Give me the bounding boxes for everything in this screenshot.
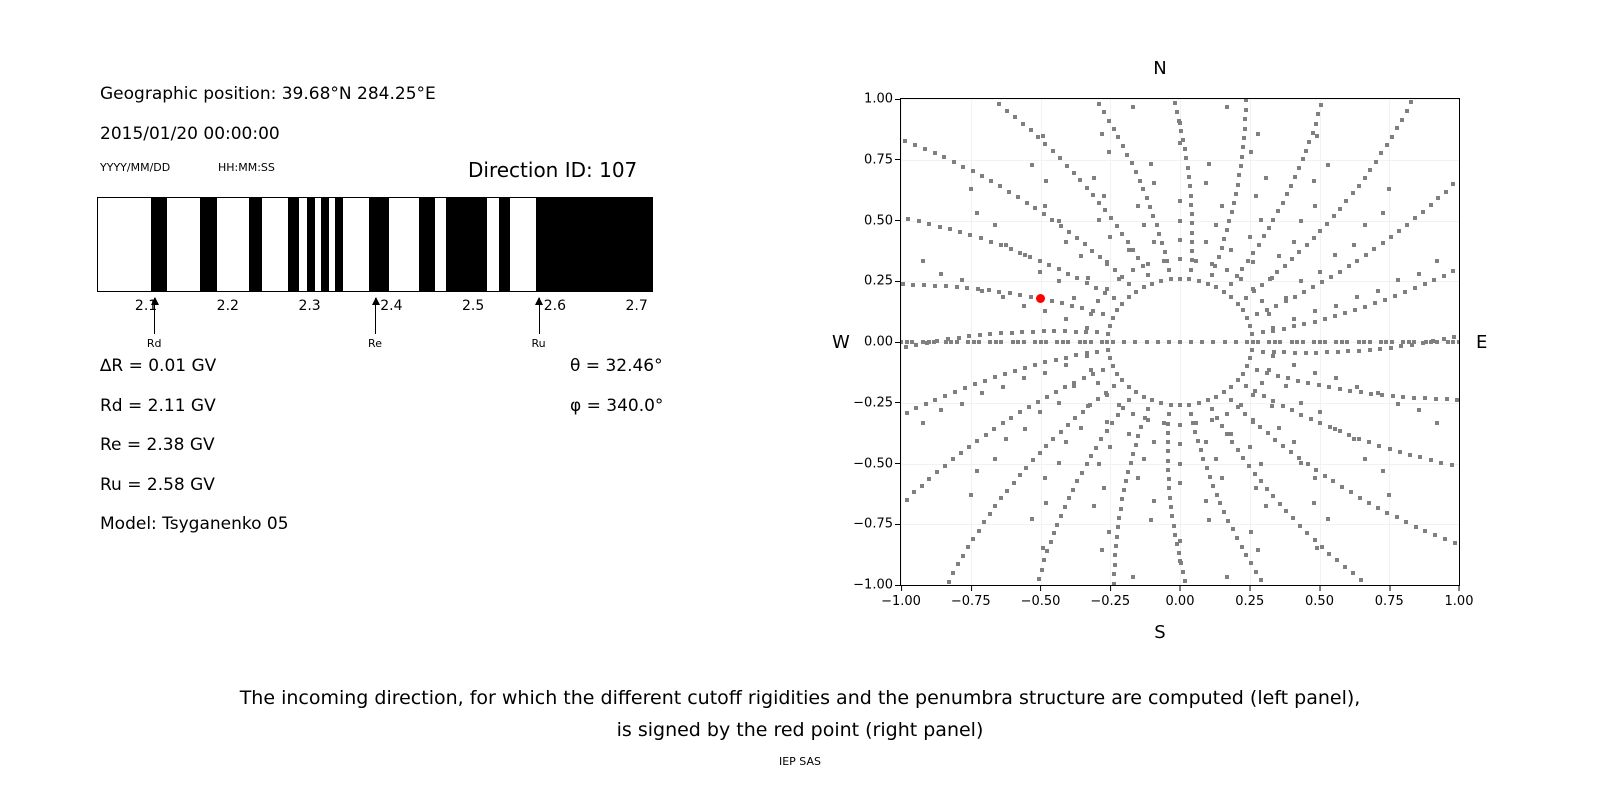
direction-point	[1297, 250, 1301, 254]
direction-point	[1229, 295, 1233, 299]
direction-point	[1333, 314, 1337, 318]
direction-point	[1218, 501, 1222, 505]
direction-point	[1098, 255, 1102, 259]
direction-point	[1073, 416, 1077, 420]
direction-point	[1079, 254, 1083, 258]
direction-point	[1054, 358, 1058, 362]
direction-point	[1064, 240, 1068, 244]
direction-point	[1338, 387, 1342, 391]
direction-point	[1239, 277, 1243, 281]
direction-point	[1290, 340, 1294, 344]
direction-point	[1170, 514, 1174, 518]
direction-point	[1131, 268, 1135, 272]
direction-point	[1064, 440, 1068, 444]
direction-point	[1119, 507, 1123, 511]
parameter-value: Re = 2.38 GV	[100, 435, 215, 455]
direction-point	[1246, 259, 1250, 263]
direction-point	[1013, 369, 1017, 373]
x-axis-tick-label: −0.75	[951, 594, 991, 609]
direction-point	[1191, 421, 1195, 425]
direction-point	[1353, 308, 1357, 312]
direction-point	[1260, 299, 1264, 303]
direction-point	[1423, 282, 1427, 286]
direction-point	[1121, 144, 1125, 148]
direction-point	[989, 179, 993, 183]
direction-point	[1038, 270, 1042, 274]
direction-point	[999, 496, 1003, 500]
penumbra-band	[536, 198, 653, 291]
direction-point	[1249, 150, 1253, 154]
direction-point	[969, 187, 973, 191]
angle-parameter-value: φ = 340.0°	[570, 396, 663, 416]
direction-point	[1189, 412, 1193, 416]
direction-point	[1357, 437, 1361, 441]
direction-point	[1229, 432, 1233, 436]
direction-point	[1244, 384, 1248, 388]
direction-point	[1352, 243, 1356, 247]
direction-point	[1009, 247, 1013, 251]
direction-point	[1142, 457, 1146, 461]
direction-point	[1111, 340, 1115, 344]
direction-point	[1276, 374, 1280, 378]
direction-point	[1241, 308, 1245, 312]
direction-point	[1332, 214, 1336, 218]
direction-point	[1186, 166, 1190, 170]
direction-point	[1309, 417, 1313, 421]
direction-point	[1127, 282, 1131, 286]
direction-point	[1009, 416, 1013, 420]
direction-point	[988, 332, 992, 336]
direction-point	[1090, 249, 1094, 253]
direction-point	[1100, 548, 1104, 552]
direction-point	[1059, 514, 1063, 518]
direction-point	[1214, 223, 1218, 227]
direction-point	[1320, 280, 1324, 284]
direction-point	[1265, 308, 1269, 312]
direction-point	[1254, 194, 1258, 198]
direction-point	[1302, 322, 1306, 326]
direction-point	[1159, 401, 1163, 405]
direction-point	[1236, 405, 1240, 409]
direction-point	[1190, 240, 1194, 244]
direction-point	[1231, 527, 1235, 531]
direction-point	[1194, 259, 1198, 263]
direction-point	[1152, 440, 1156, 444]
direction-point	[1178, 238, 1182, 242]
direction-point	[1385, 511, 1389, 515]
direction-point	[1230, 440, 1234, 444]
direction-point	[1112, 296, 1116, 300]
direction-point	[1052, 531, 1056, 535]
direction-point	[951, 571, 955, 575]
direction-point	[905, 411, 909, 415]
direction-point	[965, 286, 969, 290]
direction-point	[1241, 456, 1245, 460]
direction-point	[1022, 340, 1026, 344]
direction-point	[1346, 349, 1350, 353]
direction-point	[1395, 126, 1399, 130]
direction-point	[1189, 194, 1193, 198]
direction-point	[1259, 462, 1263, 466]
direction-point	[923, 147, 927, 151]
direction-point	[1167, 412, 1171, 416]
direction-point	[913, 143, 917, 147]
direction-point	[947, 580, 951, 584]
direction-point	[1204, 240, 1208, 244]
direction-point	[1278, 340, 1282, 344]
direction-point	[1187, 277, 1191, 281]
direction-point	[1299, 401, 1303, 405]
direction-point	[993, 375, 997, 379]
y-axis-tick-label: −1.00	[853, 578, 893, 593]
direction-point	[1391, 394, 1395, 398]
direction-point	[1397, 229, 1401, 233]
direction-point	[1166, 459, 1170, 463]
direction-point	[1292, 317, 1296, 321]
direction-point	[1086, 276, 1090, 280]
direction-point	[1451, 340, 1455, 344]
direction-point	[1214, 457, 1218, 461]
direction-point	[1021, 122, 1025, 126]
direction-point	[1103, 208, 1107, 212]
direction-point	[1412, 340, 1416, 344]
direction-point	[1295, 340, 1299, 344]
direction-point	[927, 222, 931, 226]
direction-point	[1304, 149, 1308, 153]
direction-point	[1101, 312, 1105, 316]
direction-point	[1367, 501, 1371, 505]
direction-point	[1205, 466, 1209, 470]
direction-point	[1399, 344, 1403, 348]
direction-point	[1165, 259, 1169, 263]
direction-point	[1136, 434, 1140, 438]
direction-point	[1100, 340, 1104, 344]
direction-point	[935, 470, 939, 474]
direction-point	[1312, 501, 1316, 505]
direction-point	[1234, 192, 1238, 196]
direction-point	[1136, 204, 1140, 208]
direction-point	[1328, 425, 1332, 429]
direction-point	[1210, 407, 1214, 411]
direction-point	[1380, 393, 1384, 397]
direction-point	[1313, 371, 1317, 375]
direction-point	[1136, 476, 1140, 480]
direction-point	[1248, 356, 1252, 360]
direction-point	[1418, 455, 1422, 459]
direction-point	[1211, 340, 1215, 344]
direction-point	[1292, 240, 1296, 244]
direction-point	[1215, 416, 1219, 420]
direction-point	[980, 289, 984, 293]
direction-point	[1230, 210, 1234, 214]
direction-point	[1003, 372, 1007, 376]
direction-point	[1044, 179, 1048, 183]
direction-point	[1267, 340, 1271, 344]
direction-point	[1254, 570, 1258, 574]
direction-point	[1080, 471, 1084, 475]
direction-point	[1200, 340, 1204, 344]
direction-point	[1250, 332, 1254, 336]
penumbra-tick-label: 2.2	[217, 298, 239, 314]
direction-point	[1237, 173, 1241, 177]
direction-point	[1293, 295, 1297, 299]
direction-point	[1141, 264, 1145, 268]
direction-point	[1248, 324, 1252, 328]
direction-point	[1103, 291, 1107, 295]
direction-point	[1306, 462, 1310, 466]
penumbra-band	[200, 198, 216, 291]
direction-point	[1022, 376, 1026, 380]
direction-point	[1408, 453, 1412, 457]
left-panel: Geographic position: 39.68°N 284.25°E 20…	[0, 0, 760, 640]
direction-point	[1423, 529, 1427, 533]
direction-point	[1196, 439, 1200, 443]
direction-point	[1236, 302, 1240, 306]
direction-point	[1234, 340, 1238, 344]
direction-point	[1347, 433, 1351, 437]
direction-point	[1121, 406, 1125, 410]
direction-point	[1292, 363, 1296, 367]
direction-point	[1235, 274, 1239, 278]
direction-point	[1343, 565, 1347, 569]
direction-point	[955, 340, 959, 344]
direction-point	[1229, 398, 1233, 402]
direction-point	[921, 259, 925, 263]
direction-point	[1044, 340, 1048, 344]
direction-point	[1389, 346, 1393, 350]
direction-point	[1344, 199, 1348, 203]
direction-point	[1097, 201, 1101, 205]
direction-point	[1336, 350, 1340, 354]
right-panel: N S W E −1.00−0.75−0.50−0.250.000.250.50…	[760, 0, 1600, 660]
direction-point	[1355, 385, 1359, 389]
penumbra-band	[499, 198, 510, 291]
direction-point	[1362, 340, 1366, 344]
direction-point	[982, 520, 986, 524]
angle-parameter-value: θ = 32.46°	[570, 356, 663, 376]
direction-point	[1222, 237, 1226, 241]
direction-point	[1245, 316, 1249, 320]
direction-point	[1297, 166, 1301, 170]
direction-point	[1190, 221, 1194, 225]
direction-point	[1041, 134, 1045, 138]
direction-point	[1106, 348, 1110, 352]
direction-point	[1190, 258, 1194, 262]
direction-point	[1220, 476, 1224, 480]
direction-point	[997, 290, 1001, 294]
direction-point	[1116, 413, 1120, 417]
direction-point	[1264, 176, 1268, 180]
direction-point	[1313, 204, 1317, 208]
direction-point	[1070, 304, 1074, 308]
direction-point	[1085, 351, 1089, 355]
direction-point	[1190, 231, 1194, 235]
direction-point	[1271, 354, 1275, 358]
direction-point	[951, 457, 955, 461]
direction-point	[1115, 224, 1119, 228]
direction-point	[1148, 205, 1152, 209]
direction-point	[988, 340, 992, 344]
direction-point	[1381, 211, 1385, 215]
direction-point	[1318, 421, 1322, 425]
direction-point	[942, 155, 946, 159]
direction-point	[939, 408, 943, 412]
caption-line-1: The incoming direction, for which the di…	[0, 682, 1600, 714]
direction-point	[924, 402, 928, 406]
direction-point	[1248, 445, 1252, 449]
direction-point	[910, 340, 914, 344]
direction-point	[1299, 219, 1303, 223]
direction-point	[1367, 440, 1371, 444]
x-axis-tick-label: 0.50	[1305, 594, 1334, 609]
direction-point	[1273, 438, 1277, 442]
direction-point	[963, 386, 967, 390]
direction-point	[1044, 444, 1048, 448]
direction-point	[1297, 456, 1301, 460]
direction-point	[943, 394, 947, 398]
direction-point	[1357, 184, 1361, 188]
direction-point	[1085, 186, 1089, 190]
direction-point	[1283, 264, 1287, 268]
direction-point	[1042, 558, 1046, 562]
direction-point	[1045, 395, 1049, 399]
direction-point	[1302, 290, 1306, 294]
direction-point	[1023, 253, 1027, 257]
direction-point	[1131, 105, 1135, 109]
direction-point	[1210, 273, 1214, 277]
direction-point	[1178, 277, 1182, 281]
direction-point	[1057, 461, 1061, 465]
direction-point	[1225, 228, 1229, 232]
direction-point	[1217, 255, 1221, 259]
direction-point	[1163, 250, 1167, 254]
direction-point	[1405, 223, 1409, 227]
direction-point	[1329, 275, 1333, 279]
direction-point	[1244, 98, 1248, 102]
direction-point	[912, 490, 916, 494]
direction-point	[1108, 235, 1112, 239]
direction-point	[1213, 264, 1217, 268]
direction-point	[1083, 340, 1087, 344]
direction-point	[1197, 279, 1201, 283]
direction-point	[1338, 429, 1342, 433]
direction-point	[1285, 192, 1289, 196]
direction-point	[1151, 214, 1155, 218]
direction-point	[1333, 253, 1337, 257]
direction-point	[1124, 479, 1128, 483]
direction-point	[1074, 353, 1078, 357]
direction-point	[1190, 212, 1194, 216]
direction-point	[1401, 340, 1405, 344]
direction-point	[1152, 240, 1156, 244]
direction-point	[1314, 468, 1318, 472]
direction-point	[1206, 398, 1210, 402]
direction-point	[1453, 541, 1457, 545]
direction-point	[1252, 289, 1256, 293]
direction-point	[911, 283, 915, 287]
direction-point	[1393, 294, 1397, 298]
direction-point	[1236, 448, 1240, 452]
direction-point	[1317, 383, 1321, 387]
footer-text: IEP SAS	[0, 755, 1600, 768]
selected-direction-point[interactable]	[1036, 294, 1045, 303]
gridline-vertical	[1459, 99, 1460, 585]
direction-point	[1417, 272, 1421, 276]
direction-point	[1349, 490, 1353, 494]
direction-point	[1222, 290, 1226, 294]
direction-point	[1207, 162, 1211, 166]
direction-point	[1379, 151, 1383, 155]
direction-point	[1081, 410, 1085, 414]
direction-point	[1293, 175, 1297, 179]
direction-point	[1127, 295, 1131, 299]
direction-point	[1355, 295, 1359, 299]
direction-point	[933, 398, 937, 402]
direction-point	[1414, 525, 1418, 529]
direction-point	[1066, 340, 1070, 344]
direction-point	[1024, 466, 1028, 470]
direction-point	[1256, 132, 1260, 136]
direction-point	[1314, 122, 1318, 126]
y-axis-tick-label: −0.50	[853, 456, 893, 471]
direction-point	[1265, 371, 1269, 375]
direction-point	[1193, 430, 1197, 434]
direction-point	[1417, 408, 1421, 412]
direction-point	[1243, 127, 1247, 131]
direction-point	[1355, 259, 1359, 263]
direction-point	[1082, 376, 1086, 380]
direction-point	[1439, 461, 1443, 465]
direction-point	[1095, 350, 1099, 354]
direction-point	[993, 457, 997, 461]
direction-point	[1115, 372, 1119, 376]
direction-point	[1117, 516, 1121, 520]
direction-point	[1289, 450, 1293, 454]
direction-point	[1097, 462, 1101, 466]
direction-point	[1116, 135, 1120, 139]
direction-point	[1133, 340, 1137, 344]
compass-north-label: N	[1153, 58, 1166, 79]
direction-point	[1199, 448, 1203, 452]
direction-point	[1245, 364, 1249, 368]
direction-point	[1094, 446, 1098, 450]
direction-point	[971, 169, 975, 173]
direction-point	[1104, 391, 1108, 395]
direction-point	[1131, 412, 1135, 416]
direction-point	[1240, 267, 1244, 271]
direction-point	[1436, 196, 1440, 200]
direction-point	[1376, 506, 1380, 510]
direction-point	[1092, 176, 1096, 180]
direction-point	[1063, 385, 1067, 389]
direction-point	[1097, 102, 1101, 106]
direction-point	[967, 334, 971, 338]
direction-point	[1142, 223, 1146, 227]
direction-point	[1292, 324, 1296, 328]
direction-point	[1251, 340, 1255, 344]
direction-point	[1340, 485, 1344, 489]
direction-point	[1312, 236, 1316, 240]
direction-point	[1142, 395, 1146, 399]
direction-point	[1229, 248, 1233, 252]
direction-point	[1327, 552, 1331, 556]
parameter-value: ∆R = 0.01 GV	[100, 356, 216, 376]
direction-point	[1136, 256, 1140, 260]
direction-point	[1299, 279, 1303, 283]
direction-point	[1446, 340, 1450, 344]
direction-point	[1188, 184, 1192, 188]
direction-point	[944, 340, 948, 344]
